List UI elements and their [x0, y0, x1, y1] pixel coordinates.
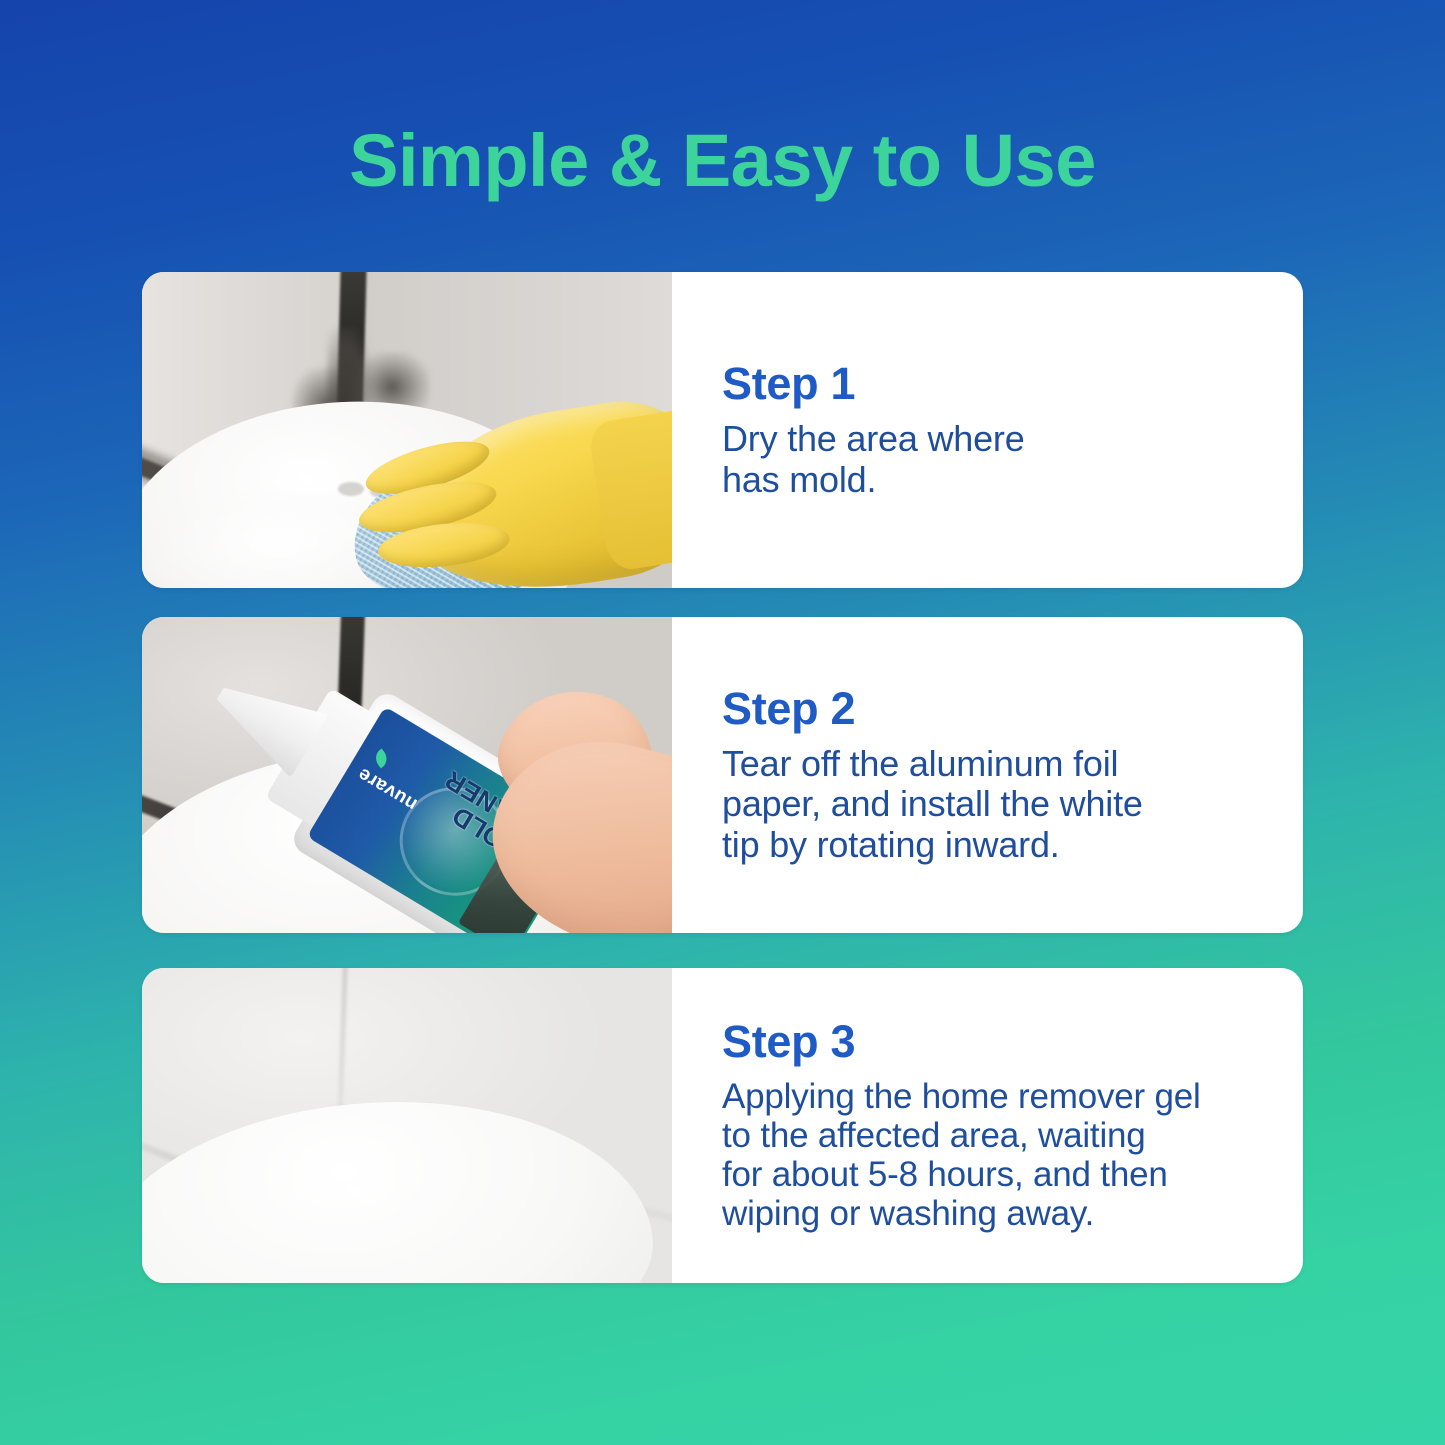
step-3-text: Step 3 Applying the home remover gel to … — [672, 968, 1303, 1283]
step-2-text: Step 2 Tear off the aluminum foil paper,… — [672, 617, 1303, 933]
step-card-2: nuvare MOLD CLEANER 99% Step 2 Tear off … — [142, 617, 1303, 933]
page-title: Simple & Easy to Use — [0, 124, 1445, 198]
title-section: Simple & Easy to Use — [0, 0, 1445, 198]
step-1-body: Dry the area where has mold. — [722, 419, 1277, 500]
step-2-heading: Step 2 — [722, 685, 1277, 732]
step-1-photo — [142, 272, 672, 588]
step-2-photo: nuvare MOLD CLEANER 99% — [142, 617, 672, 933]
step-1-text: Step 1 Dry the area where has mold. — [672, 272, 1303, 588]
step-3-heading: Step 3 — [722, 1018, 1277, 1065]
tub-speck — [338, 482, 364, 496]
leaf-icon — [372, 748, 392, 768]
brand-name: nuvare — [354, 762, 421, 814]
steps-list: Step 1 Dry the area where has mold. — [142, 272, 1303, 1283]
step-1-heading: Step 1 — [722, 360, 1277, 407]
water-droplet — [348, 1186, 362, 1196]
step-2-body: Tear off the aluminum foil paper, and in… — [722, 744, 1277, 865]
step-card-3: Step 3 Applying the home remover gel to … — [142, 968, 1303, 1283]
step-3-photo — [142, 968, 672, 1283]
step-3-body: Applying the home remover gel to the aff… — [722, 1077, 1277, 1234]
step-card-1: Step 1 Dry the area where has mold. — [142, 272, 1303, 588]
